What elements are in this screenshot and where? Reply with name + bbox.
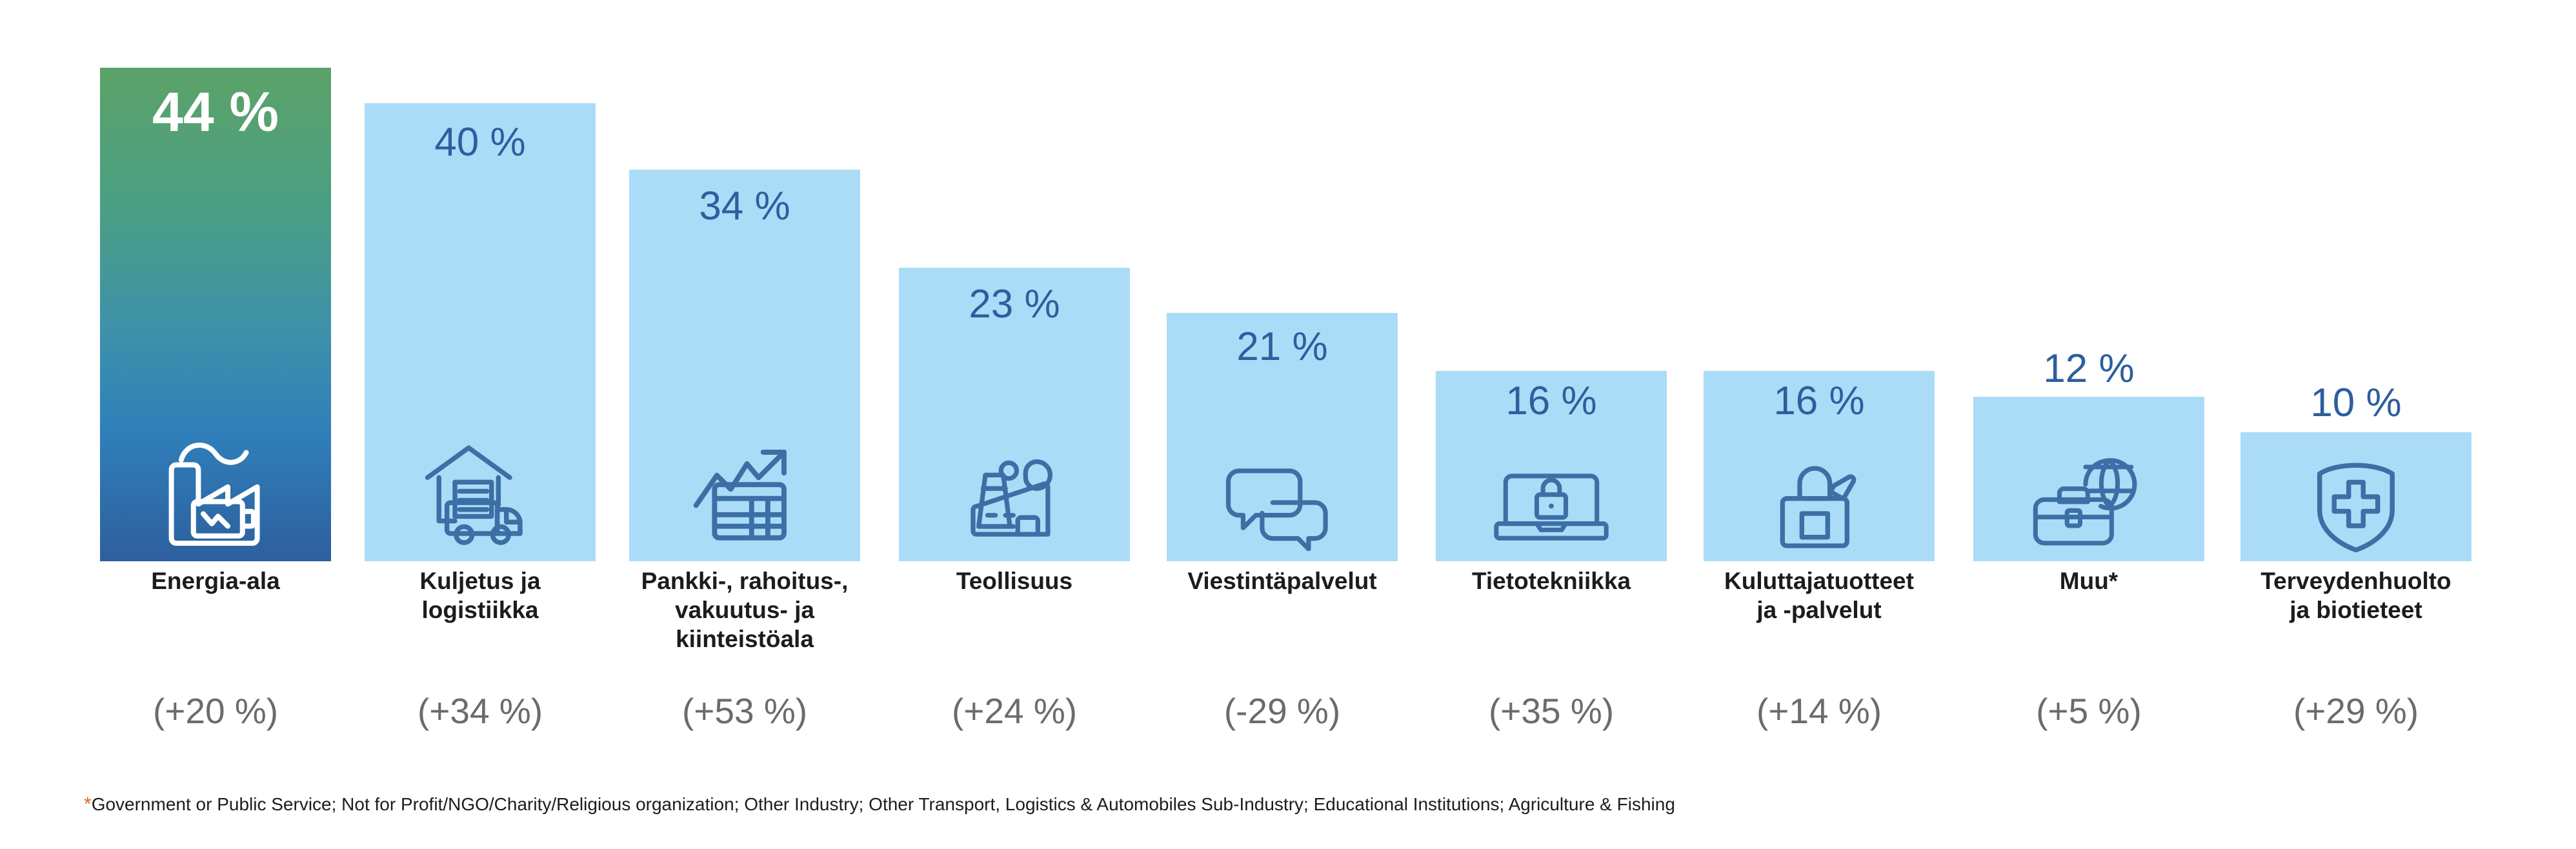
- category-line: logistiikka: [365, 595, 596, 624]
- factory-smokestack-icon: [956, 450, 1072, 550]
- change-label-kuljetus: (+34 %): [365, 694, 596, 729]
- category-label-terveydenhuolto: Terveydenhuolto ja biotieteet: [2228, 566, 2484, 624]
- bar-value-tietotekniikka: 16 %: [1436, 381, 1667, 421]
- bar-energia-ala[interactable]: 44 %: [100, 68, 331, 561]
- category-line: Energia-ala: [100, 566, 331, 595]
- bar-column-energia-ala: 44 %: [100, 0, 331, 561]
- bar-value-muu: 12 %: [1973, 349, 2204, 389]
- bar-column-tietotekniikka: 16 %: [1436, 0, 1667, 561]
- category-label-muu: Muu*: [1973, 566, 2204, 595]
- industry-bar-chart: 44 % 40 %: [0, 0, 2576, 849]
- change-label-energia-ala: (+20 %): [100, 694, 331, 729]
- growth-chart-calculator-icon: [687, 441, 803, 547]
- change-label-row: (+20 %) (+34 %) (+53 %) (+24 %) (-29 %) …: [0, 694, 2576, 752]
- category-label-viestintapalvelut: Viestintäpalvelut: [1154, 566, 1411, 595]
- change-label-viestintapalvelut: (-29 %): [1167, 694, 1398, 729]
- bar-value-teollisuus: 23 %: [899, 285, 1130, 325]
- category-label-pankki-rahoitus: Pankki-, rahoitus-, vakuutus- ja kiintei…: [616, 566, 873, 654]
- bar-terveydenhuolto[interactable]: 10 %: [2240, 432, 2471, 561]
- bar-column-pankki-rahoitus-vakuutus-kiinteistoala: 34 %: [629, 0, 860, 561]
- category-label-kuluttajatuotteet: Kuluttajatuotteet ja -palvelut: [1691, 566, 1947, 624]
- bar-kuljetus-ja-logistiikka[interactable]: 40 %: [365, 103, 596, 561]
- bar-value-terveydenhuolto: 10 %: [2240, 383, 2471, 423]
- category-label-kuljetus-ja-logistiikka: Kuljetus ja logistiikka: [365, 566, 596, 624]
- bar-value-energia-ala: 44 %: [100, 85, 331, 140]
- bar-column-terveydenhuolto-ja-biotieteet: 10 %: [2240, 0, 2471, 561]
- footnote-asterisk: *: [84, 794, 92, 815]
- bar-kuluttajatuotteet[interactable]: 16 %: [1704, 371, 1935, 561]
- category-line: ja -palvelut: [1691, 595, 1947, 624]
- category-line: Terveydenhuolto: [2228, 566, 2484, 595]
- change-label-teollisuus: (+24 %): [899, 694, 1130, 729]
- change-label-muu: (+5 %): [1973, 694, 2204, 729]
- category-line: Kuluttajatuotteet: [1691, 566, 1947, 595]
- change-label-pankki: (+53 %): [629, 694, 860, 729]
- category-line: Pankki-, rahoitus-,: [616, 566, 873, 595]
- bar-viestintapalvelut[interactable]: 21 %: [1167, 313, 1398, 561]
- bar-tietotekniikka[interactable]: 16 %: [1436, 371, 1667, 561]
- bar-column-kuljetus-ja-logistiikka: 40 %: [365, 0, 596, 561]
- category-line: Muu*: [1973, 566, 2204, 595]
- bar-value-viestintapalvelut: 21 %: [1167, 327, 1398, 367]
- category-line: vakuutus- ja: [616, 595, 873, 624]
- category-label-teollisuus: Teollisuus: [899, 566, 1130, 595]
- bar-column-teollisuus: 23 %: [899, 0, 1130, 561]
- category-line: ja biotieteet: [2228, 595, 2484, 624]
- power-plant-battery-icon: [154, 433, 277, 546]
- category-line: Tietotekniikka: [1429, 566, 1673, 595]
- bar-value-kuljetus-ja-logistiikka: 40 %: [365, 123, 596, 163]
- bar-column-kuluttajatuotteet-ja-palvelut: 16 %: [1704, 0, 1935, 561]
- change-label-kuluttajatuotteet: (+14 %): [1704, 694, 1935, 729]
- bar-pankki-rahoitus[interactable]: 34 %: [629, 170, 860, 561]
- change-label-terveydenhuolto: (+29 %): [2240, 694, 2471, 729]
- category-label-row: Energia-ala Kuljetus ja logistiikka Pank…: [0, 566, 2576, 683]
- category-line: Teollisuus: [899, 566, 1130, 595]
- speech-bubbles-icon: [1224, 454, 1340, 551]
- category-line: Kuljetus ja: [365, 566, 596, 595]
- bar-column-viestintapalvelut: 21 %: [1167, 0, 1398, 561]
- category-line: kiinteistöala: [616, 624, 873, 654]
- shopping-bag-tag-icon: [1764, 462, 1874, 552]
- category-label-tietotekniikka: Tietotekniikka: [1429, 566, 1673, 595]
- change-label-tietotekniikka: (+35 %): [1436, 694, 1667, 729]
- warehouse-truck-icon: [421, 439, 540, 548]
- chart-plot-area: 44 % 40 %: [0, 0, 2576, 561]
- category-line: Viestintäpalvelut: [1154, 566, 1411, 595]
- footnote-text: Government or Public Service; Not for Pr…: [92, 794, 1675, 814]
- bar-value-kuluttajatuotteet: 16 %: [1704, 381, 1935, 421]
- bar-muu[interactable]: 12 %: [1973, 397, 2204, 561]
- shield-medical-cross-icon: [2308, 458, 2404, 555]
- bar-column-muu: 12 %: [1973, 0, 2204, 561]
- briefcase-globe-icon: [2031, 456, 2147, 550]
- footnote: *Government or Public Service; Not for P…: [84, 792, 1675, 817]
- laptop-lock-icon: [1493, 462, 1609, 552]
- category-label-energia-ala: Energia-ala: [100, 566, 331, 595]
- bar-teollisuus[interactable]: 23 %: [899, 268, 1130, 561]
- bar-value-pankki-rahoitus: 34 %: [629, 186, 860, 226]
